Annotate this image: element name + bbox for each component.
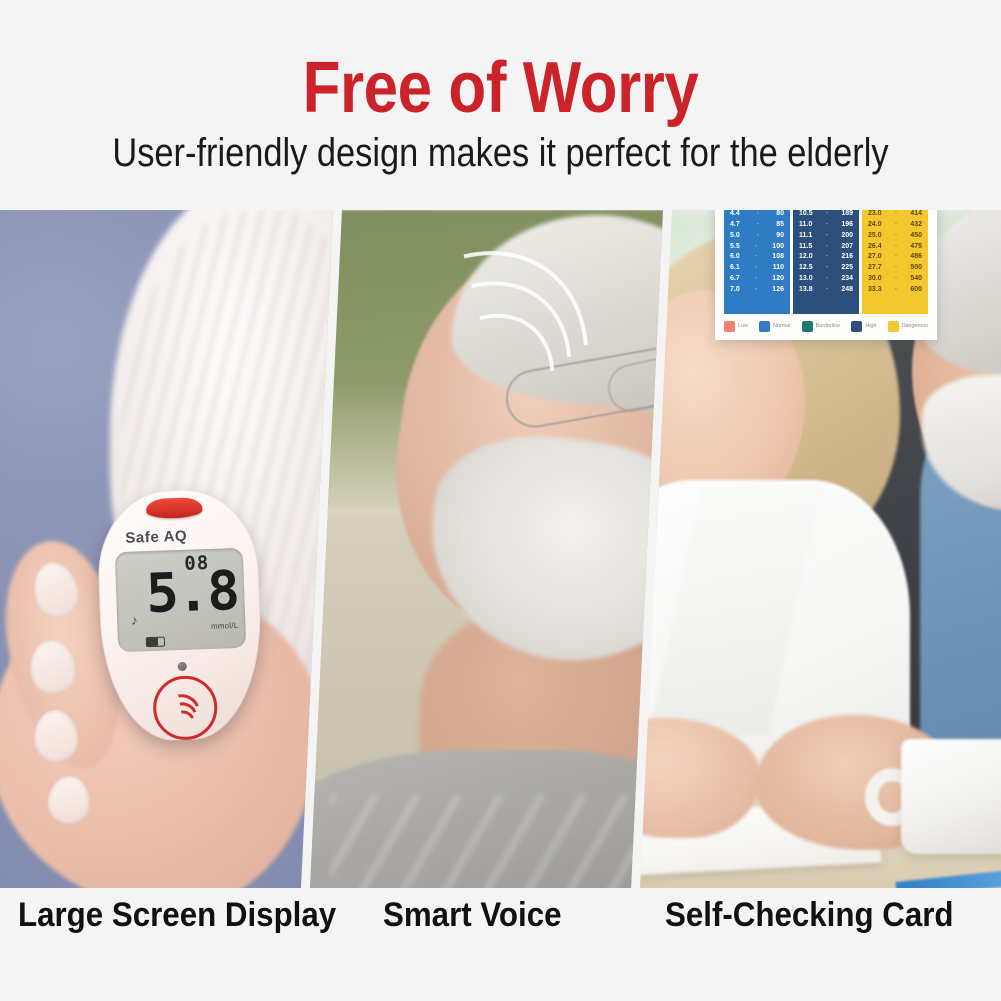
table-row: 30.0-540 [862,273,928,284]
tshirt-folds [330,795,660,888]
voice-button[interactable] [152,675,218,741]
panel3-photo: 3.9-704.0-724.4-804.7-855.0-905.5-1006.0… [640,210,1001,888]
table-row: 6.7-120 [724,273,790,284]
table-row: 27.0-486 [862,251,928,262]
conversion-column-normal: 3.9-704.0-724.4-804.7-855.0-905.5-1006.0… [724,210,790,314]
table-row: 25.0-450 [862,230,928,241]
legend-item-dangerous: Dangerous [888,321,928,332]
eject-button[interactable] [146,497,203,519]
caption-self-checking-card: Self-Checking Card [665,896,954,935]
legend-swatch [851,321,862,332]
conversion-table: 3.9-704.0-724.4-804.7-855.0-905.5-1006.0… [724,210,928,314]
table-row: 26.4-475 [862,241,928,252]
caption-smart-voice: Smart Voice [383,896,561,935]
page-subtitle: User-friendly design makes it perfect fo… [70,133,931,173]
legend-item-high: High [851,321,876,332]
legend-item-normal: Normal [759,321,790,332]
caption-row: Large Screen Display Smart Voice Self-Ch… [0,888,1001,1001]
legend-label: Normal [773,323,790,329]
table-row: 11.5-207 [793,241,859,252]
table-row: 12.5-225 [793,262,859,273]
legend-label: High [865,323,876,329]
table-row: 13.8-248 [793,284,859,295]
header-banner: Free of Worry User-friendly design makes… [0,0,1001,210]
table-row: 27.7-500 [862,262,928,273]
brand-label: Safe AQ [125,526,236,547]
table-row: 4.7-85 [724,219,790,230]
coffee-mug [901,739,1001,854]
lcd-big-value: 5.8 [145,564,238,621]
panel-large-screen-display: Safe AQ 08 5.8 mmol/L ♪ [0,210,340,888]
table-row: 11.1-200 [793,230,859,241]
legend-label: Low [738,323,748,329]
legend-swatch [759,321,770,332]
conversion-column-dangerous: 20.8-37522.2-40023.0-41424.0-43225.0-450… [862,210,928,314]
table-row: 6.0-108 [724,251,790,262]
table-row: 10.5-189 [793,210,859,219]
table-row: 5.0-90 [724,230,790,241]
table-row: 33.3-600 [862,284,928,295]
lcd-screen: 08 5.8 mmol/L ♪ [115,548,246,652]
legend-label: Borderline [816,323,841,329]
legend-swatch [724,321,735,332]
panel1-photo: Safe AQ 08 5.8 mmol/L ♪ [0,210,340,888]
conversion-column-high: 10.0-18010.1-18210.5-18911.0-19611.1-200… [793,210,859,314]
table-row: 12.0-216 [793,251,859,262]
table-row: 7.0-126 [724,284,790,295]
sound-note-icon: ♪ [131,612,138,627]
table-row: 23.0-414 [862,210,928,219]
table-row: 4.4-80 [724,210,790,219]
lcd-unit-label: mmol/L [211,621,239,631]
table-row: 11.0-196 [793,219,859,230]
caption-large-screen-display: Large Screen Display [18,896,336,935]
legend-label: Dangerous [902,323,928,329]
legend-swatch [888,321,899,332]
feature-panel-strip: Safe AQ 08 5.8 mmol/L ♪ [0,210,1001,888]
table-row: 13.0-234 [793,273,859,284]
page-title: Free of Worry [70,52,931,124]
table-row: 5.5-100 [724,241,790,252]
blood-sugar-conversion-card: 3.9-704.0-724.4-804.7-855.0-905.5-1006.0… [715,210,937,340]
legend-item-borderline: Borderline [802,321,841,332]
legend-item-low: Low [724,321,748,332]
status-led [178,662,187,671]
battery-icon [146,637,165,648]
legend-swatch [802,321,813,332]
conversion-legend: LowNormalBorderlineHighDangerous [724,317,928,335]
table-row: 24.0-432 [862,219,928,230]
table-row: 6.1-110 [724,262,790,273]
